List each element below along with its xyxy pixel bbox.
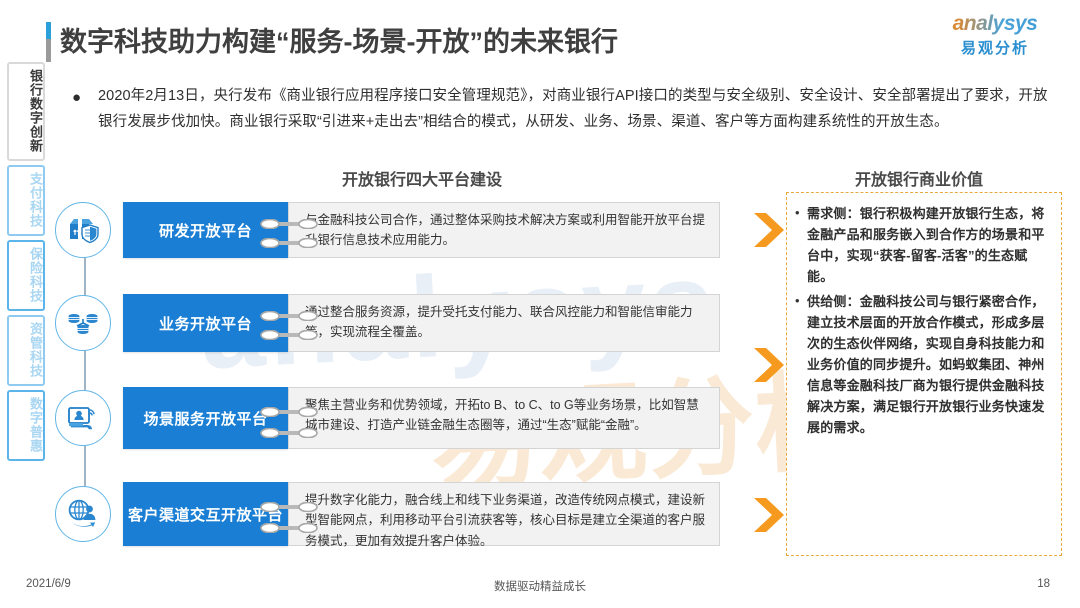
platform-row: 业务开放平台 通过整合服务资源，提升受托支付能力、联合风控能力和智能信审能力等，… (55, 294, 720, 352)
page-footer: 2021/6/9 数据驱动精益成长 18 (0, 578, 1080, 600)
value-panel: • 需求侧：银行积极构建开放银行生态，将金融产品和服务嵌入到合作方的场景和平台中… (786, 192, 1062, 556)
globe-user-icon (55, 486, 111, 542)
value-text-1: 供给侧：金融科技公司与银行紧密合作，建立技术层面的开放合作模式，形成多层次的生态… (807, 291, 1051, 438)
sidebar-item-3[interactable]: 资管科技 (7, 315, 45, 386)
platform-desc-3: 提升数字化能力，融合线上和线下业务渠道，改造传统网点模式，建设新型智能网点，利用… (288, 482, 720, 546)
brand-logo: analysys 易观分析 (930, 12, 1060, 58)
platform-name-2[interactable]: 场景服务开放平台 (123, 387, 288, 449)
connector-clamp-icon (260, 498, 318, 508)
value-bullet-1: • (795, 291, 807, 438)
platform-row: 客户渠道交互开放平台 提升数字化能力，融合线上和线下业务渠道，改造传统网点模式，… (55, 482, 720, 546)
sidebar-item-0[interactable]: 银行数字创新 (7, 62, 45, 161)
platform-desc-3-text: 提升数字化能力，融合线上和线下业务渠道，改造传统网点模式，建设新型智能网点，利用… (305, 493, 705, 548)
sidebar-rail: 银行数字创新 支付科技 保险科技 资管科技 数字普惠 (6, 62, 46, 465)
brand-logo-sub: 易观分析 (930, 37, 1060, 58)
chevron-right-icon (752, 495, 786, 535)
value-text-0: 需求侧：银行积极构建开放银行生态，将金融产品和服务嵌入到合作方的场景和平台中，实… (807, 203, 1051, 287)
platform-name-0-label: 研发开放平台 (159, 220, 252, 241)
database-cluster-icon (55, 295, 111, 351)
sidebar-item-1[interactable]: 支付科技 (7, 165, 45, 236)
sidebar-item-3-label: 资管科技 (9, 322, 43, 378)
connector-clamp-icon (260, 424, 318, 434)
package-shield-icon (55, 202, 111, 258)
sidebar-item-4[interactable]: 数字普惠 (7, 390, 45, 461)
footer-slogan: 数据驱动精益成长 (0, 578, 1080, 594)
connector-clamp-icon (260, 403, 318, 413)
connector-clamp-icon (260, 326, 318, 336)
brand-logo-main: analysys (930, 12, 1060, 36)
value-item-0: • 需求侧：银行积极构建开放银行生态，将金融产品和服务嵌入到合作方的场景和平台中… (795, 203, 1051, 287)
platform-desc-2: 聚焦主营业务和优势领域，开拓to B、to C、to G等业务场景，比如智慧城市… (288, 387, 720, 449)
sidebar-item-0-label: 银行数字创新 (9, 69, 43, 153)
platform-desc-0-text: 与金融科技公司合作，通过整体采购技术解决方案或利用智能开放平台提升银行信息技术应… (305, 213, 705, 247)
platform-name-2-label: 场景服务开放平台 (143, 408, 267, 429)
platform-name-1-label: 业务开放平台 (159, 313, 252, 334)
title-accent-bar (46, 22, 51, 62)
platform-name-0[interactable]: 研发开放平台 (123, 202, 288, 258)
platform-row: 场景服务开放平台 聚焦主营业务和优势领域，开拓to B、to C、to G等业务… (55, 387, 720, 449)
heading-right: 开放银行商业价值 (855, 166, 983, 190)
sidebar-item-1-label: 支付科技 (9, 172, 43, 228)
platform-name-1[interactable]: 业务开放平台 (123, 294, 288, 352)
value-item-1: • 供给侧：金融科技公司与银行紧密合作，建立技术层面的开放合作模式，形成多层次的… (795, 291, 1051, 438)
intro-text: 2020年2月13日，央行发布《商业银行应用程序接口安全管理规范》，对商业银行A… (98, 84, 1062, 136)
footer-page-number: 18 (1037, 578, 1050, 590)
sidebar-item-2-label: 保险科技 (9, 247, 43, 303)
heading-left: 开放银行四大平台建设 (342, 166, 502, 190)
connector-clamp-icon (260, 215, 318, 225)
connector-clamp-icon (260, 307, 318, 317)
intro-paragraph: ● 2020年2月13日，央行发布《商业银行应用程序接口安全管理规范》，对商业银… (72, 84, 1062, 136)
platform-name-3[interactable]: 客户渠道交互开放平台 (123, 482, 288, 546)
chevron-right-icon (752, 345, 786, 385)
intro-bullet-dot: ● (72, 84, 98, 136)
monitor-user-wifi-icon (55, 390, 111, 446)
platform-row: 研发开放平台 与金融科技公司合作，通过整体采购技术解决方案或利用智能开放平台提升… (55, 202, 720, 258)
platform-desc-1-text: 通过整合服务资源，提升受托支付能力、联合风控能力和智能信审能力等，实现流程全覆盖… (305, 305, 693, 339)
platform-desc-1: 通过整合服务资源，提升受托支付能力、联合风控能力和智能信审能力等，实现流程全覆盖… (288, 294, 720, 352)
chevron-right-icon (752, 210, 786, 250)
page-title: 数字科技助力构建“服务-场景-开放”的未来银行 (60, 20, 618, 59)
platform-desc-2-text: 聚焦主营业务和优势领域，开拓to B、to C、to G等业务场景，比如智慧城市… (305, 398, 699, 432)
value-bullet-0: • (795, 203, 807, 287)
sidebar-item-4-label: 数字普惠 (9, 397, 43, 453)
connector-clamp-icon (260, 234, 318, 244)
flow-spine-line (84, 236, 86, 506)
platform-desc-0: 与金融科技公司合作，通过整体采购技术解决方案或利用智能开放平台提升银行信息技术应… (288, 202, 720, 258)
page-header: 数字科技助力构建“服务-场景-开放”的未来银行 analysys 易观分析 (0, 0, 1080, 70)
connector-clamp-icon (260, 519, 318, 529)
sidebar-item-2[interactable]: 保险科技 (7, 240, 45, 311)
